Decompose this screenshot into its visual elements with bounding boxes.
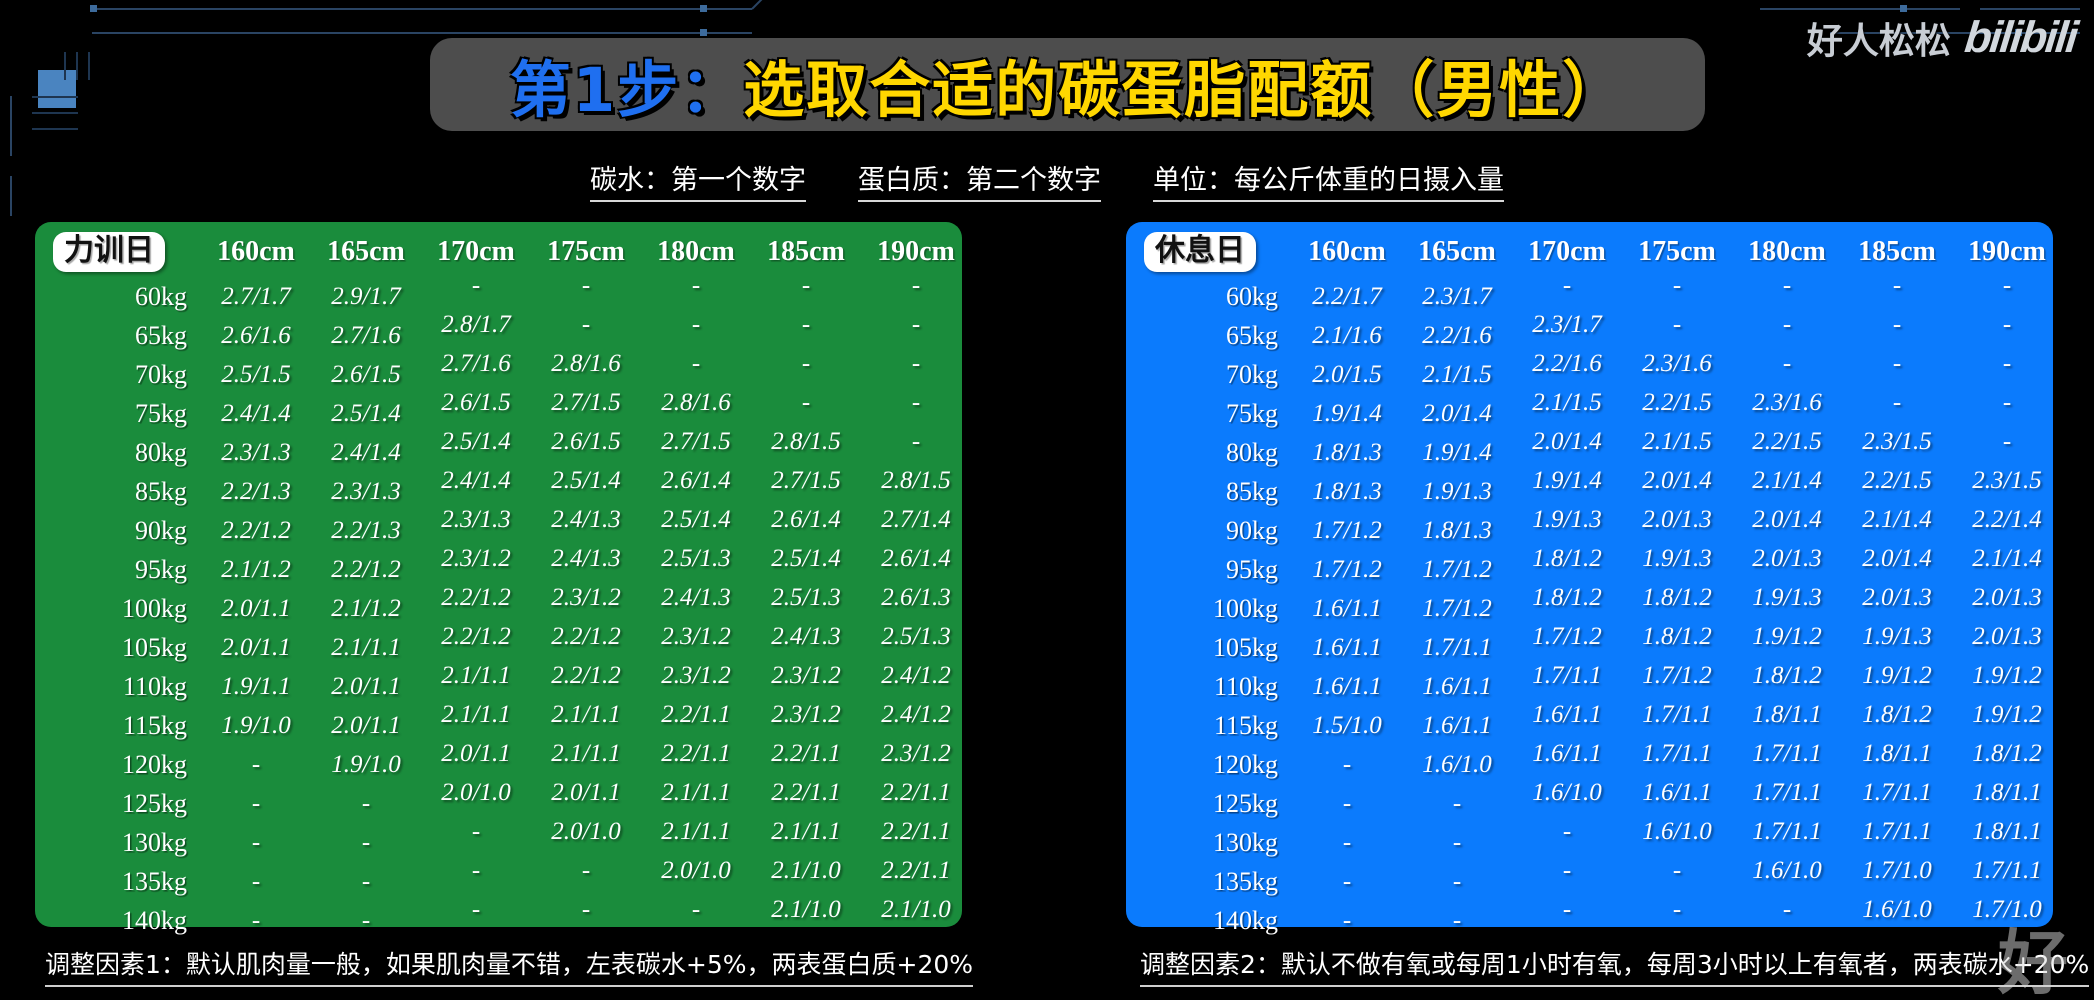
cell-80kg-165cm: 2.4/1.4 bbox=[311, 434, 421, 473]
cell-60kg-165cm: 2.3/1.7 bbox=[1402, 278, 1512, 317]
row-label-105kg: 105kg bbox=[1140, 629, 1292, 668]
cell-90kg-175cm: 2.0/1.3 bbox=[1622, 501, 1732, 540]
cell-120kg-165cm: 1.9/1.0 bbox=[311, 746, 421, 785]
hud-tick-e bbox=[32, 112, 78, 114]
row-label-70kg: 70kg bbox=[1140, 356, 1292, 395]
cell-115kg-190cm: 2.4/1.2 bbox=[861, 696, 971, 735]
cell-75kg-170cm: 2.1/1.5 bbox=[1512, 384, 1622, 423]
cell-115kg-185cm: 1.8/1.2 bbox=[1842, 696, 1952, 735]
training-day-table: 力训日160cm165cm170cm175cm180cm185cm190cm 6… bbox=[49, 232, 971, 941]
cell-100kg-160cm: 1.6/1.1 bbox=[1292, 590, 1402, 629]
cell-125kg-185cm: 2.2/1.1 bbox=[751, 774, 861, 813]
row-label-70kg: 70kg bbox=[49, 356, 201, 395]
cell-130kg-190cm: 1.8/1.1 bbox=[1952, 813, 2062, 852]
legend-protein: 蛋白质：第二个数字 bbox=[858, 158, 1101, 202]
cell-60kg-185cm: - bbox=[1842, 267, 1952, 306]
cell-65kg-175cm: - bbox=[1622, 306, 1732, 345]
cell-85kg-175cm: 2.5/1.4 bbox=[531, 462, 641, 501]
footnote-adjustment-2: 调整因素2：默认不做有氧或每周1小时有氧，每周3小时以上有氧者，两表碳水+20% bbox=[1140, 945, 2089, 987]
cell-130kg-160cm: - bbox=[1292, 824, 1402, 863]
cell-95kg-170cm: 1.8/1.2 bbox=[1512, 540, 1622, 579]
row-label-130kg: 130kg bbox=[49, 824, 201, 863]
cell-100kg-170cm: 2.2/1.2 bbox=[421, 579, 531, 618]
row-label-120kg: 120kg bbox=[49, 746, 201, 785]
cell-105kg-170cm: 2.2/1.2 bbox=[421, 618, 531, 657]
cell-95kg-165cm: 2.2/1.2 bbox=[311, 551, 421, 590]
row-label-90kg: 90kg bbox=[49, 512, 201, 551]
cell-85kg-160cm: 1.8/1.3 bbox=[1292, 473, 1402, 512]
row-label-100kg: 100kg bbox=[1140, 590, 1292, 629]
cell-60kg-160cm: 2.2/1.7 bbox=[1292, 278, 1402, 317]
cell-130kg-165cm: - bbox=[311, 824, 421, 863]
cell-60kg-180cm: - bbox=[641, 267, 751, 306]
title-step-label: 第1步： bbox=[510, 55, 743, 126]
cell-135kg-180cm: 1.6/1.0 bbox=[1732, 852, 1842, 891]
cell-60kg-160cm: 2.7/1.7 bbox=[201, 278, 311, 317]
hud-line-top-1 bbox=[92, 8, 752, 10]
cell-120kg-175cm: 2.1/1.1 bbox=[531, 735, 641, 774]
training-day-badge: 力训日 bbox=[53, 232, 165, 272]
cell-100kg-165cm: 2.1/1.2 bbox=[311, 590, 421, 629]
cell-65kg-185cm: - bbox=[751, 306, 861, 345]
cell-120kg-165cm: 1.6/1.0 bbox=[1402, 746, 1512, 785]
cell-80kg-160cm: 2.3/1.3 bbox=[201, 434, 311, 473]
cell-125kg-160cm: - bbox=[1292, 785, 1402, 824]
cell-105kg-190cm: 2.0/1.3 bbox=[1952, 618, 2062, 657]
cell-135kg-175cm: - bbox=[1622, 852, 1732, 891]
cell-130kg-175cm: 1.6/1.0 bbox=[1622, 813, 1732, 852]
row-label-105kg: 105kg bbox=[49, 629, 201, 668]
page-title: 第1步：选取合适的碳蛋脂配额（男性） bbox=[510, 40, 1625, 129]
cell-110kg-165cm: 1.6/1.1 bbox=[1402, 668, 1512, 707]
cell-110kg-185cm: 1.9/1.2 bbox=[1842, 657, 1952, 696]
cell-120kg-170cm: 2.0/1.1 bbox=[421, 735, 531, 774]
cell-90kg-185cm: 2.1/1.4 bbox=[1842, 501, 1952, 540]
cell-85kg-185cm: 2.2/1.5 bbox=[1842, 462, 1952, 501]
cell-110kg-175cm: 1.7/1.2 bbox=[1622, 657, 1732, 696]
cell-115kg-185cm: 2.3/1.2 bbox=[751, 696, 861, 735]
cell-125kg-190cm: 2.2/1.1 bbox=[861, 774, 971, 813]
rest-day-table-panel: 休息日160cm165cm170cm175cm180cm185cm190cm 6… bbox=[1126, 222, 2053, 927]
cell-130kg-180cm: 1.7/1.1 bbox=[1732, 813, 1842, 852]
cell-75kg-175cm: 2.2/1.5 bbox=[1622, 384, 1732, 423]
cell-130kg-190cm: 2.2/1.1 bbox=[861, 813, 971, 852]
row-label-95kg: 95kg bbox=[1140, 551, 1292, 590]
cell-70kg-160cm: 2.0/1.5 bbox=[1292, 356, 1402, 395]
cell-120kg-185cm: 2.2/1.1 bbox=[751, 735, 861, 774]
cell-95kg-170cm: 2.3/1.2 bbox=[421, 540, 531, 579]
row-label-110kg: 110kg bbox=[49, 668, 201, 707]
cell-130kg-170cm: - bbox=[421, 813, 531, 852]
cell-105kg-160cm: 2.0/1.1 bbox=[201, 629, 311, 668]
hud-dot-1 bbox=[90, 5, 97, 12]
cell-65kg-175cm: - bbox=[531, 306, 641, 345]
cell-115kg-160cm: 1.5/1.0 bbox=[1292, 707, 1402, 746]
cell-90kg-180cm: 2.5/1.4 bbox=[641, 501, 751, 540]
cell-95kg-175cm: 1.9/1.3 bbox=[1622, 540, 1732, 579]
cell-135kg-185cm: 2.1/1.0 bbox=[751, 852, 861, 891]
cell-105kg-185cm: 1.9/1.3 bbox=[1842, 618, 1952, 657]
cell-110kg-185cm: 2.3/1.2 bbox=[751, 657, 861, 696]
cell-90kg-160cm: 1.7/1.2 bbox=[1292, 512, 1402, 551]
cell-70kg-190cm: - bbox=[1952, 345, 2062, 384]
cell-90kg-165cm: 2.2/1.3 bbox=[311, 512, 421, 551]
cell-135kg-160cm: - bbox=[1292, 863, 1402, 902]
row-label-135kg: 135kg bbox=[49, 863, 201, 902]
cell-140kg-165cm: - bbox=[311, 902, 421, 941]
cell-95kg-180cm: 2.5/1.3 bbox=[641, 540, 751, 579]
cell-125kg-170cm: 2.0/1.0 bbox=[421, 774, 531, 813]
cell-90kg-185cm: 2.6/1.4 bbox=[751, 501, 861, 540]
cell-65kg-160cm: 2.1/1.6 bbox=[1292, 317, 1402, 356]
cell-65kg-170cm: 2.8/1.7 bbox=[421, 306, 531, 345]
cell-70kg-180cm: - bbox=[1732, 345, 1842, 384]
cell-70kg-190cm: - bbox=[861, 345, 971, 384]
cell-95kg-190cm: 2.6/1.4 bbox=[861, 540, 971, 579]
row-label-80kg: 80kg bbox=[49, 434, 201, 473]
cell-75kg-165cm: 2.0/1.4 bbox=[1402, 395, 1512, 434]
cell-90kg-165cm: 1.8/1.3 bbox=[1402, 512, 1512, 551]
cell-85kg-165cm: 1.9/1.3 bbox=[1402, 473, 1512, 512]
column-header-160cm: 160cm bbox=[1292, 232, 1402, 278]
row-label-140kg: 140kg bbox=[1140, 902, 1292, 941]
cell-115kg-165cm: 1.6/1.1 bbox=[1402, 707, 1512, 746]
cell-65kg-165cm: 2.2/1.6 bbox=[1402, 317, 1512, 356]
cell-80kg-165cm: 1.9/1.4 bbox=[1402, 434, 1512, 473]
cell-65kg-180cm: - bbox=[1732, 306, 1842, 345]
cell-75kg-190cm: - bbox=[1952, 384, 2062, 423]
cell-120kg-160cm: - bbox=[1292, 746, 1402, 785]
cell-110kg-180cm: 2.3/1.2 bbox=[641, 657, 751, 696]
cell-80kg-160cm: 1.8/1.3 bbox=[1292, 434, 1402, 473]
cell-140kg-190cm: 1.7/1.0 bbox=[1952, 891, 2062, 930]
cell-75kg-180cm: 2.8/1.6 bbox=[641, 384, 751, 423]
cell-85kg-190cm: 2.8/1.5 bbox=[861, 462, 971, 501]
cell-140kg-175cm: - bbox=[531, 891, 641, 930]
cell-90kg-175cm: 2.4/1.3 bbox=[531, 501, 641, 540]
cell-140kg-180cm: - bbox=[641, 891, 751, 930]
cell-110kg-160cm: 1.9/1.1 bbox=[201, 668, 311, 707]
cell-110kg-190cm: 2.4/1.2 bbox=[861, 657, 971, 696]
cell-95kg-160cm: 1.7/1.2 bbox=[1292, 551, 1402, 590]
cell-115kg-175cm: 1.7/1.1 bbox=[1622, 696, 1732, 735]
cell-105kg-180cm: 2.3/1.2 bbox=[641, 618, 751, 657]
row-label-115kg: 115kg bbox=[1140, 707, 1292, 746]
cell-130kg-165cm: - bbox=[1402, 824, 1512, 863]
cell-85kg-185cm: 2.7/1.5 bbox=[751, 462, 861, 501]
cell-85kg-180cm: 2.1/1.4 bbox=[1732, 462, 1842, 501]
cell-105kg-185cm: 2.4/1.3 bbox=[751, 618, 861, 657]
cell-125kg-160cm: - bbox=[201, 785, 311, 824]
cell-135kg-170cm: - bbox=[1512, 852, 1622, 891]
cell-95kg-175cm: 2.4/1.3 bbox=[531, 540, 641, 579]
cell-85kg-160cm: 2.2/1.3 bbox=[201, 473, 311, 512]
cell-65kg-170cm: 2.3/1.7 bbox=[1512, 306, 1622, 345]
cell-110kg-160cm: 1.6/1.1 bbox=[1292, 668, 1402, 707]
cell-110kg-170cm: 2.1/1.1 bbox=[421, 657, 531, 696]
cell-70kg-175cm: 2.8/1.6 bbox=[531, 345, 641, 384]
cell-75kg-160cm: 1.9/1.4 bbox=[1292, 395, 1402, 434]
cell-85kg-175cm: 2.0/1.4 bbox=[1622, 462, 1732, 501]
cell-85kg-180cm: 2.6/1.4 bbox=[641, 462, 751, 501]
cell-75kg-185cm: - bbox=[1842, 384, 1952, 423]
cell-95kg-185cm: 2.0/1.4 bbox=[1842, 540, 1952, 579]
row-label-125kg: 125kg bbox=[49, 785, 201, 824]
cell-115kg-180cm: 2.2/1.1 bbox=[641, 696, 751, 735]
cell-140kg-170cm: - bbox=[1512, 891, 1622, 930]
hud-dot-3 bbox=[700, 29, 707, 36]
column-header-165cm: 165cm bbox=[1402, 232, 1512, 278]
cell-60kg-170cm: - bbox=[1512, 267, 1622, 306]
cell-85kg-170cm: 2.4/1.4 bbox=[421, 462, 531, 501]
cell-140kg-190cm: 2.1/1.0 bbox=[861, 891, 971, 930]
cell-110kg-180cm: 1.8/1.2 bbox=[1732, 657, 1842, 696]
cell-125kg-190cm: 1.8/1.1 bbox=[1952, 774, 2062, 813]
cell-130kg-160cm: - bbox=[201, 824, 311, 863]
hud-line-left-vert bbox=[10, 96, 12, 156]
cell-65kg-165cm: 2.7/1.6 bbox=[311, 317, 421, 356]
cell-80kg-180cm: 2.2/1.5 bbox=[1732, 423, 1842, 462]
rest-day-badge: 休息日 bbox=[1144, 232, 1256, 272]
row-label-110kg: 110kg bbox=[1140, 668, 1292, 707]
row-label-90kg: 90kg bbox=[1140, 512, 1292, 551]
cell-140kg-180cm: - bbox=[1732, 891, 1842, 930]
cell-100kg-175cm: 2.3/1.2 bbox=[531, 579, 641, 618]
cell-80kg-185cm: 2.8/1.5 bbox=[751, 423, 861, 462]
cell-135kg-160cm: - bbox=[201, 863, 311, 902]
cell-70kg-165cm: 2.1/1.5 bbox=[1402, 356, 1512, 395]
cell-75kg-180cm: 2.3/1.6 bbox=[1732, 384, 1842, 423]
cell-135kg-190cm: 2.2/1.1 bbox=[861, 852, 971, 891]
cell-110kg-190cm: 1.9/1.2 bbox=[1952, 657, 2062, 696]
cell-110kg-165cm: 2.0/1.1 bbox=[311, 668, 421, 707]
cell-140kg-185cm: 1.6/1.0 bbox=[1842, 891, 1952, 930]
hud-tick-a bbox=[64, 52, 66, 80]
hud-tick-d bbox=[32, 96, 78, 98]
hud-tick-b bbox=[76, 52, 78, 80]
cell-65kg-180cm: - bbox=[641, 306, 751, 345]
cell-70kg-165cm: 2.6/1.5 bbox=[311, 356, 421, 395]
cell-105kg-190cm: 2.5/1.3 bbox=[861, 618, 971, 657]
cell-65kg-190cm: - bbox=[1952, 306, 2062, 345]
cell-90kg-190cm: 2.2/1.4 bbox=[1952, 501, 2062, 540]
rest-day-badge-cell: 休息日 bbox=[1140, 232, 1292, 278]
cell-105kg-175cm: 2.2/1.2 bbox=[531, 618, 641, 657]
cell-60kg-190cm: - bbox=[861, 267, 971, 306]
row-label-100kg: 100kg bbox=[49, 590, 201, 629]
cell-110kg-175cm: 2.2/1.2 bbox=[531, 657, 641, 696]
hud-line-tr-1 bbox=[1760, 8, 1960, 10]
cell-100kg-160cm: 2.0/1.1 bbox=[201, 590, 311, 629]
cell-75kg-175cm: 2.7/1.5 bbox=[531, 384, 641, 423]
cell-95kg-160cm: 2.1/1.2 bbox=[201, 551, 311, 590]
cell-65kg-160cm: 2.6/1.6 bbox=[201, 317, 311, 356]
cell-105kg-160cm: 1.6/1.1 bbox=[1292, 629, 1402, 668]
cell-140kg-165cm: - bbox=[1402, 902, 1512, 941]
cell-125kg-175cm: 2.0/1.1 bbox=[531, 774, 641, 813]
cell-130kg-175cm: 2.0/1.0 bbox=[531, 813, 641, 852]
cell-115kg-180cm: 1.8/1.1 bbox=[1732, 696, 1842, 735]
cell-100kg-190cm: 2.0/1.3 bbox=[1952, 579, 2062, 618]
cell-80kg-170cm: 2.5/1.4 bbox=[421, 423, 531, 462]
cell-100kg-190cm: 2.6/1.3 bbox=[861, 579, 971, 618]
cell-135kg-185cm: 1.7/1.0 bbox=[1842, 852, 1952, 891]
legend-unit: 单位：每公斤体重的日摄入量 bbox=[1153, 158, 1504, 202]
row-label-135kg: 135kg bbox=[1140, 863, 1292, 902]
cell-100kg-180cm: 2.4/1.3 bbox=[641, 579, 751, 618]
cell-65kg-185cm: - bbox=[1842, 306, 1952, 345]
cell-65kg-190cm: - bbox=[861, 306, 971, 345]
cell-75kg-160cm: 2.4/1.4 bbox=[201, 395, 311, 434]
hud-dot-tr-1 bbox=[1900, 5, 1907, 12]
slide-canvas: 第1步：选取合适的碳蛋脂配额（男性） 好人松松 bilibili 碳水：第一个数… bbox=[0, 0, 2094, 1000]
cell-100kg-175cm: 1.8/1.2 bbox=[1622, 579, 1732, 618]
cell-120kg-185cm: 1.8/1.1 bbox=[1842, 735, 1952, 774]
cell-70kg-160cm: 2.5/1.5 bbox=[201, 356, 311, 395]
hud-tick-c bbox=[88, 52, 90, 80]
row-label-60kg: 60kg bbox=[1140, 278, 1292, 317]
row-label-85kg: 85kg bbox=[1140, 473, 1292, 512]
cell-115kg-170cm: 2.1/1.1 bbox=[421, 696, 531, 735]
cell-60kg-170cm: - bbox=[421, 267, 531, 306]
row-label-120kg: 120kg bbox=[1140, 746, 1292, 785]
cell-85kg-170cm: 1.9/1.4 bbox=[1512, 462, 1622, 501]
cell-60kg-165cm: 2.9/1.7 bbox=[311, 278, 421, 317]
cell-100kg-165cm: 1.7/1.2 bbox=[1402, 590, 1512, 629]
cell-135kg-165cm: - bbox=[1402, 863, 1512, 902]
cell-105kg-165cm: 1.7/1.1 bbox=[1402, 629, 1512, 668]
brand-watermark: 好人松松 bilibili bbox=[1807, 12, 2076, 64]
hud-tick-f bbox=[32, 128, 78, 130]
row-label-75kg: 75kg bbox=[49, 395, 201, 434]
cell-70kg-180cm: - bbox=[641, 345, 751, 384]
cell-125kg-185cm: 1.7/1.1 bbox=[1842, 774, 1952, 813]
row-label-140kg: 140kg bbox=[49, 902, 201, 941]
row-label-85kg: 85kg bbox=[49, 473, 201, 512]
column-header-160cm: 160cm bbox=[201, 232, 311, 278]
cell-95kg-165cm: 1.7/1.2 bbox=[1402, 551, 1512, 590]
cell-100kg-170cm: 1.8/1.2 bbox=[1512, 579, 1622, 618]
training-day-table-panel: 力训日160cm165cm170cm175cm180cm185cm190cm 6… bbox=[35, 222, 962, 927]
cell-75kg-190cm: - bbox=[861, 384, 971, 423]
cell-80kg-190cm: - bbox=[861, 423, 971, 462]
cell-120kg-180cm: 2.2/1.1 bbox=[641, 735, 751, 774]
cell-70kg-170cm: 2.2/1.6 bbox=[1512, 345, 1622, 384]
cell-90kg-190cm: 2.7/1.4 bbox=[861, 501, 971, 540]
cell-75kg-170cm: 2.6/1.5 bbox=[421, 384, 531, 423]
cell-115kg-190cm: 1.9/1.2 bbox=[1952, 696, 2062, 735]
rest-day-table: 休息日160cm165cm170cm175cm180cm185cm190cm 6… bbox=[1140, 232, 2062, 941]
cell-110kg-170cm: 1.7/1.1 bbox=[1512, 657, 1622, 696]
channel-name: 好人松松 bbox=[1807, 12, 1951, 64]
cell-140kg-185cm: 2.1/1.0 bbox=[751, 891, 861, 930]
cell-90kg-180cm: 2.0/1.4 bbox=[1732, 501, 1842, 540]
cell-80kg-185cm: 2.3/1.5 bbox=[1842, 423, 1952, 462]
cell-75kg-185cm: - bbox=[751, 384, 861, 423]
cell-100kg-185cm: 2.0/1.3 bbox=[1842, 579, 1952, 618]
cell-115kg-170cm: 1.6/1.1 bbox=[1512, 696, 1622, 735]
cell-120kg-190cm: 1.8/1.2 bbox=[1952, 735, 2062, 774]
cell-80kg-175cm: 2.1/1.5 bbox=[1622, 423, 1732, 462]
cell-95kg-185cm: 2.5/1.4 bbox=[751, 540, 861, 579]
cell-130kg-170cm: - bbox=[1512, 813, 1622, 852]
cell-115kg-175cm: 2.1/1.1 bbox=[531, 696, 641, 735]
cell-125kg-180cm: 1.7/1.1 bbox=[1732, 774, 1842, 813]
cell-60kg-190cm: - bbox=[1952, 267, 2062, 306]
cell-60kg-175cm: - bbox=[1622, 267, 1732, 306]
cell-125kg-165cm: - bbox=[311, 785, 421, 824]
row-label-65kg: 65kg bbox=[49, 317, 201, 356]
cell-130kg-180cm: 2.1/1.1 bbox=[641, 813, 751, 852]
cell-105kg-170cm: 1.7/1.2 bbox=[1512, 618, 1622, 657]
cell-100kg-185cm: 2.5/1.3 bbox=[751, 579, 861, 618]
cell-105kg-175cm: 1.8/1.2 bbox=[1622, 618, 1732, 657]
cell-135kg-165cm: - bbox=[311, 863, 421, 902]
cell-80kg-190cm: - bbox=[1952, 423, 2062, 462]
row-label-65kg: 65kg bbox=[1140, 317, 1292, 356]
table-row: 140kg-----2.1/1.02.1/1.0 bbox=[49, 902, 971, 941]
title-main-label: 选取合适的碳蛋脂配额（男性） bbox=[743, 55, 1625, 126]
cell-80kg-180cm: 2.7/1.5 bbox=[641, 423, 751, 462]
cell-135kg-175cm: - bbox=[531, 852, 641, 891]
cell-140kg-170cm: - bbox=[421, 891, 531, 930]
cell-90kg-170cm: 2.3/1.3 bbox=[421, 501, 531, 540]
cell-135kg-190cm: 1.7/1.1 bbox=[1952, 852, 2062, 891]
cell-120kg-180cm: 1.7/1.1 bbox=[1732, 735, 1842, 774]
cell-60kg-180cm: - bbox=[1732, 267, 1842, 306]
cell-135kg-180cm: 2.0/1.0 bbox=[641, 852, 751, 891]
row-label-130kg: 130kg bbox=[1140, 824, 1292, 863]
cell-80kg-170cm: 2.0/1.4 bbox=[1512, 423, 1622, 462]
cell-105kg-165cm: 2.1/1.1 bbox=[311, 629, 421, 668]
cell-125kg-180cm: 2.1/1.1 bbox=[641, 774, 751, 813]
cell-135kg-170cm: - bbox=[421, 852, 531, 891]
cell-75kg-165cm: 2.5/1.4 bbox=[311, 395, 421, 434]
cell-130kg-185cm: 2.1/1.1 bbox=[751, 813, 861, 852]
cell-140kg-160cm: - bbox=[201, 902, 311, 941]
column-header-165cm: 165cm bbox=[311, 232, 421, 278]
cell-70kg-185cm: - bbox=[751, 345, 861, 384]
footnote-adjustment-1: 调整因素1：默认肌肉量一般，如果肌肉量不错，左表碳水+5%，两表蛋白质+20% bbox=[45, 945, 973, 987]
cell-120kg-190cm: 2.3/1.2 bbox=[861, 735, 971, 774]
cell-60kg-185cm: - bbox=[751, 267, 861, 306]
cell-90kg-160cm: 2.2/1.2 bbox=[201, 512, 311, 551]
row-label-75kg: 75kg bbox=[1140, 395, 1292, 434]
row-label-95kg: 95kg bbox=[49, 551, 201, 590]
cell-140kg-175cm: - bbox=[1622, 891, 1732, 930]
legend-carbs: 碳水：第一个数字 bbox=[590, 158, 806, 202]
row-label-80kg: 80kg bbox=[1140, 434, 1292, 473]
slide-title-bar: 第1步：选取合适的碳蛋脂配额（男性） bbox=[430, 38, 1705, 131]
hud-line-top-diag bbox=[751, 0, 778, 10]
cell-70kg-175cm: 2.3/1.6 bbox=[1622, 345, 1732, 384]
hud-dot-2 bbox=[700, 5, 707, 12]
legend-row: 碳水：第一个数字 蛋白质：第二个数字 单位：每公斤体重的日摄入量 bbox=[0, 158, 2094, 202]
cell-90kg-170cm: 1.9/1.3 bbox=[1512, 501, 1622, 540]
cell-95kg-190cm: 2.1/1.4 bbox=[1952, 540, 2062, 579]
cell-120kg-175cm: 1.7/1.1 bbox=[1622, 735, 1732, 774]
hud-line-tr-2 bbox=[1980, 8, 2080, 10]
cell-70kg-185cm: - bbox=[1842, 345, 1952, 384]
cell-85kg-165cm: 2.3/1.3 bbox=[311, 473, 421, 512]
row-label-125kg: 125kg bbox=[1140, 785, 1292, 824]
table-row: 140kg-----1.6/1.01.7/1.0 bbox=[1140, 902, 2062, 941]
hud-blue-square bbox=[38, 70, 76, 108]
cell-125kg-165cm: - bbox=[1402, 785, 1512, 824]
cell-100kg-180cm: 1.9/1.3 bbox=[1732, 579, 1842, 618]
row-label-60kg: 60kg bbox=[49, 278, 201, 317]
cell-80kg-175cm: 2.6/1.5 bbox=[531, 423, 641, 462]
